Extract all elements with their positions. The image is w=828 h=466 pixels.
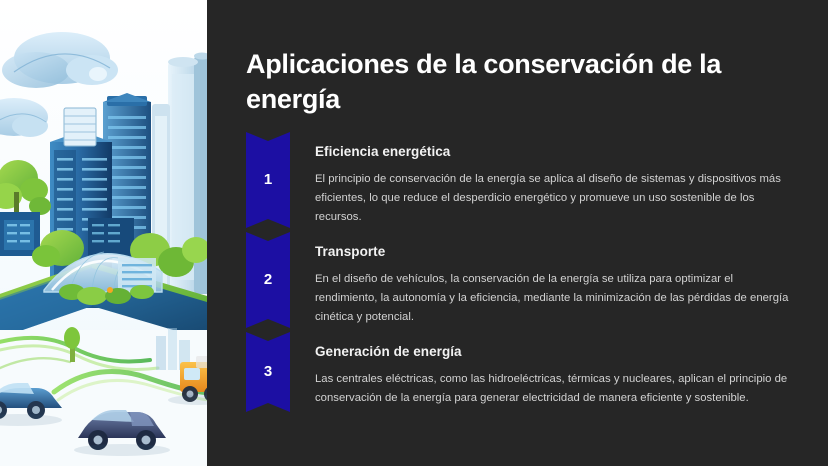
item-text-block: Transporte En el diseño de vehículos, la… (290, 232, 802, 327)
item-heading: Transporte (315, 244, 802, 261)
eco-city-illustration (0, 0, 207, 466)
solar-panel-structure (64, 108, 96, 146)
ribbon-badge-3: 3 (246, 332, 290, 412)
item-body: Las centrales eléctricas, como las hidro… (315, 370, 795, 408)
ribbon-badge-2: 2 (246, 232, 290, 328)
list-item: 1 Eficiencia energética El principio de … (246, 132, 802, 228)
item-text-block: Eficiencia energética El principio de co… (290, 132, 802, 227)
slide: Aplicaciones de la conservación de la en… (0, 0, 828, 466)
eco-city-illustration-panel (0, 0, 207, 466)
list-item: 3 Generación de energía Las centrales el… (246, 332, 802, 412)
ribbon-shape: 1 (246, 132, 290, 228)
badge-number: 3 (264, 364, 272, 379)
item-heading: Eficiencia energética (315, 144, 802, 161)
ribbon-shape: 2 (246, 232, 290, 328)
item-heading: Generación de energía (315, 344, 802, 361)
item-text-block: Generación de energía Las centrales eléc… (290, 332, 802, 408)
badge-number: 2 (264, 272, 272, 287)
ribbon-badge-1: 1 (246, 132, 290, 228)
list-item: 2 Transporte En el diseño de vehículos, … (246, 232, 802, 328)
badge-number: 1 (264, 172, 272, 187)
ribbon-shape: 3 (246, 332, 290, 412)
content-panel: Aplicaciones de la conservación de la en… (207, 0, 828, 466)
page-title: Aplicaciones de la conservación de la en… (246, 47, 780, 116)
numbered-items-list: 1 Eficiencia energética El principio de … (246, 132, 802, 412)
item-body: En el diseño de vehículos, la conservaci… (315, 270, 795, 327)
item-body: El principio de conservación de la energ… (315, 170, 795, 227)
